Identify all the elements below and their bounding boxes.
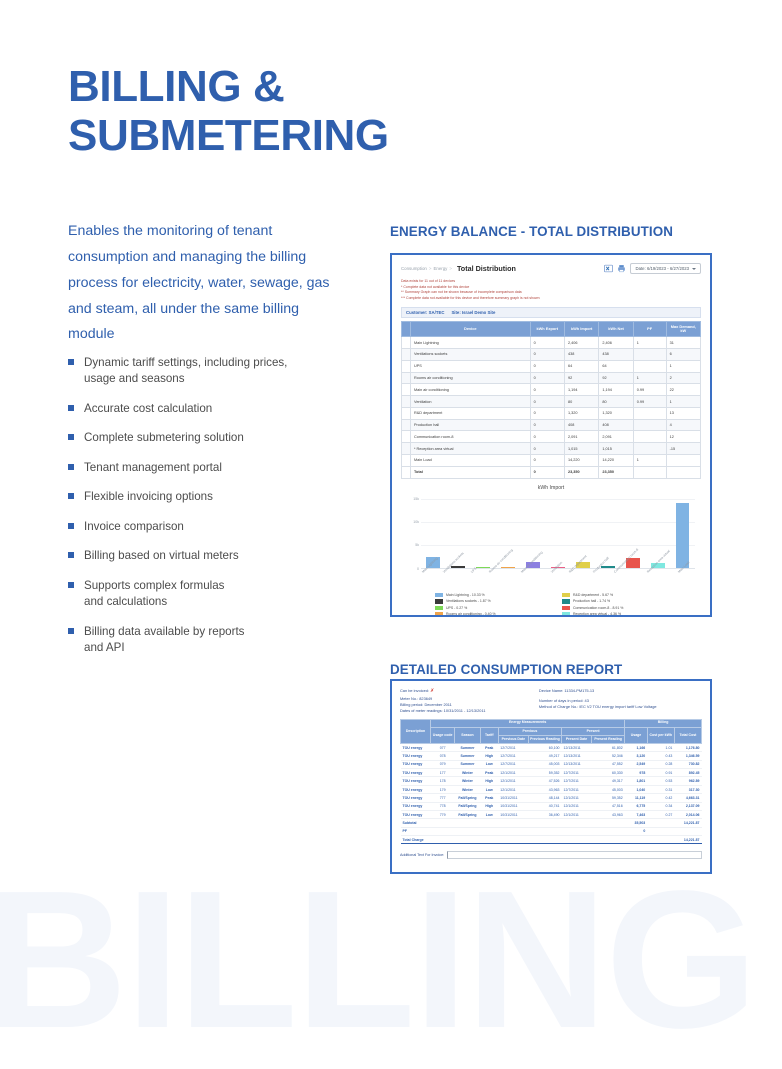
- table-cell: 1: [666, 396, 700, 408]
- feature-label: Dynamic tariff settings, including price…: [84, 355, 287, 388]
- table-cell: 61,802: [592, 743, 625, 751]
- table-row[interactable]: TOU energy778Fall/SpringHigh10/31/201140…: [401, 802, 702, 810]
- table-cell: 438: [599, 349, 633, 361]
- table-cell: 59,352: [592, 794, 625, 802]
- table-cell: 408: [564, 419, 598, 431]
- table-cell: 12: [666, 431, 700, 443]
- table-cell: 178: [431, 777, 455, 785]
- chevron-down-icon: [692, 268, 696, 270]
- report-meta: Can be invoiced: ✗ Meter No.: 823649 Bil…: [400, 688, 702, 714]
- table-cell: 0: [530, 384, 564, 396]
- table-cell: 1,194: [599, 384, 633, 396]
- table-cell: Rooms air conditioning: [411, 372, 531, 384]
- table-cell: 730.82: [674, 760, 701, 768]
- legend-item[interactable]: Rooms air conditioning - 0.40 %: [435, 612, 554, 617]
- table-cell: 10/31/2011: [498, 810, 528, 818]
- table-cell: 43,963: [528, 785, 561, 793]
- legend-item[interactable]: Production hall - 1.74 %: [562, 599, 681, 604]
- legend-swatch: [562, 606, 570, 611]
- footer-total: [674, 827, 701, 835]
- table-cell: 078: [431, 752, 455, 760]
- feature-item: Billing data available by reports and AP…: [68, 624, 368, 657]
- table-header-sub-row: Usage codeSeasonTariffPreviousPresentUsa…: [401, 727, 702, 735]
- table-cell: Communication room-8: [411, 431, 531, 443]
- table-cell: [402, 431, 411, 443]
- table-cell: 0.53: [647, 777, 674, 785]
- table-cell: 2: [666, 372, 700, 384]
- column-header[interactable]: Max Demand, kW: [666, 322, 700, 337]
- table-cell: 10/31/2011: [498, 794, 528, 802]
- table-cell: 2,406: [599, 337, 633, 349]
- table-cell: 92: [564, 372, 598, 384]
- table-cell: TOU energy: [401, 769, 431, 777]
- table-cell: [402, 443, 411, 455]
- legend-label: R&D department - 5.67 %: [573, 593, 613, 597]
- legend-item[interactable]: Communication room-8 - 8.91 %: [562, 606, 681, 611]
- footer-spacer: [647, 836, 674, 844]
- charge-method: Method of Charge No.: IEC V2 TOU energy …: [539, 704, 702, 710]
- table-cell: 31: [666, 337, 700, 349]
- table-cell: 2,137.09: [674, 802, 701, 810]
- table-cell: 1,801: [625, 777, 648, 785]
- table-cell: 12/13/2011: [562, 752, 592, 760]
- table-cell: 1: [633, 372, 666, 384]
- legend-swatch: [435, 612, 443, 617]
- group-header-energy: Energy Measurements: [431, 719, 625, 727]
- group-header-billing: Billing: [625, 719, 702, 727]
- table-cell: 1,194: [564, 384, 598, 396]
- table-cell: 778: [431, 802, 455, 810]
- pf-row: PF0: [401, 827, 702, 835]
- table-row[interactable]: TOU energy178WinterHigh12/1/201147,52612…: [401, 777, 702, 785]
- table-cell: 12/7/2011: [562, 769, 592, 777]
- bullet-icon: [68, 405, 74, 411]
- table-cell: [633, 349, 666, 361]
- feature-item: Supports complex formulas and calculatio…: [68, 578, 368, 611]
- breadcrumb-separator-2: >: [449, 266, 452, 271]
- column-header[interactable]: Device: [411, 322, 531, 337]
- report-section-title: DETAILED CONSUMPTION REPORT: [390, 662, 622, 677]
- y-tick-label: 0: [417, 567, 419, 571]
- chart-x-axis-labels: Main LightningVentilations socketsUPSRoo…: [421, 569, 695, 591]
- table-cell: 3,120: [625, 752, 648, 760]
- legend-label: Production hall - 1.74 %: [573, 599, 610, 603]
- table-cell: 48,144: [528, 794, 561, 802]
- table-cell: 14,220: [564, 455, 598, 467]
- table-cell: 892.45: [674, 769, 701, 777]
- bullet-icon: [68, 493, 74, 499]
- date-range-label: Date: 6/19/2023 - 6/27/2023: [635, 266, 689, 271]
- table-cell: 978: [625, 769, 648, 777]
- table-cell: 6: [666, 349, 700, 361]
- table-row[interactable]: TOU energy078SummerHigh12/7/201149,21712…: [401, 752, 702, 760]
- table-cell: TOU energy: [401, 785, 431, 793]
- site-label: Site: Israel Demo Site: [451, 310, 495, 315]
- table-header-group-row: DescriptionEnergy MeasurementsBilling: [401, 719, 702, 727]
- table-cell: 43,963: [592, 810, 625, 818]
- table-cell: 40,741: [528, 802, 561, 810]
- table-cell: [633, 407, 666, 419]
- legend-item[interactable]: UPS - 0.27 %: [435, 606, 554, 611]
- column-header-usage[interactable]: Usage: [625, 727, 648, 743]
- detailed-consumption-screenshot: Can be invoiced: ✗ Meter No.: 823649 Bil…: [390, 679, 712, 874]
- table-cell: 0: [530, 419, 564, 431]
- report-meta-left: Can be invoiced: ✗ Meter No.: 823649 Bil…: [400, 688, 539, 714]
- table-cell: Total: [411, 466, 531, 478]
- table-cell: 2,406: [564, 337, 598, 349]
- table-cell: [402, 407, 411, 419]
- table-cell: 0: [530, 407, 564, 419]
- table-cell: 59,352: [528, 769, 561, 777]
- can-be-invoiced-label: Can be invoiced:: [400, 688, 429, 693]
- table-cell: 0.91: [647, 769, 674, 777]
- table-row[interactable]: TOU energy177WinterPeak12/1/201159,35212…: [401, 769, 702, 777]
- feature-item: Dynamic tariff settings, including price…: [68, 355, 368, 388]
- table-cell: 2,091: [599, 431, 633, 443]
- legend-swatch: [435, 593, 443, 598]
- table-row[interactable]: * Reception area virtual01,0151,015-15: [402, 443, 701, 455]
- footer-total: 14,221.87: [674, 836, 701, 844]
- table-cell: High: [480, 802, 498, 810]
- feature-label: Billing based on virtual meters: [84, 548, 239, 564]
- table-cell: Peak: [480, 794, 498, 802]
- table-cell: Winter: [455, 769, 481, 777]
- table-row[interactable]: Production hall04084084: [402, 419, 701, 431]
- table-row[interactable]: Main air conditioning01,1941,1940.9922: [402, 384, 701, 396]
- column-header-cost-per-kwh[interactable]: Cost per kWh: [647, 727, 674, 743]
- table-cell: [402, 455, 411, 467]
- feature-item: Invoice comparison: [68, 519, 368, 535]
- table-cell: Summer: [455, 743, 481, 751]
- legend-label: Communication room-8 - 8.91 %: [573, 606, 623, 610]
- meter-reading-dates: Dates of meter readings: 10/31/2011 - 12…: [400, 708, 539, 714]
- footer-usage: [625, 836, 648, 844]
- table-cell: 179: [431, 785, 455, 793]
- energy-bar-chart: 05k10k15k Main LightningVentilations soc…: [405, 495, 695, 591]
- page-title-line1: BILLING &: [68, 62, 284, 111]
- table-cell: 0: [530, 466, 564, 478]
- table-row[interactable]: TOU energy077SummerPeak12/7/201160,10012…: [401, 743, 702, 751]
- table-cell: 80: [564, 396, 598, 408]
- legend-swatch: [435, 606, 443, 611]
- chart-title: kWh Import: [401, 485, 701, 491]
- table-cell: Ventilation: [411, 396, 531, 408]
- feature-item: Flexible invoicing options: [68, 489, 368, 505]
- feature-label: Invoice comparison: [84, 519, 184, 535]
- table-cell: 0.31: [647, 785, 674, 793]
- table-cell: 1,346.59: [674, 752, 701, 760]
- table-cell: 14,220: [599, 455, 633, 467]
- legend-item[interactable]: R&D department - 5.67 %: [562, 593, 681, 598]
- table-cell: 12/13/2011: [562, 760, 592, 768]
- table-cell: 1.01: [647, 743, 674, 751]
- table-row[interactable]: UPS064641: [402, 360, 701, 372]
- bullet-icon: [68, 582, 74, 588]
- legend-label: UPS - 0.27 %: [446, 606, 467, 610]
- legend-swatch: [562, 612, 570, 617]
- bullet-icon: [68, 628, 74, 634]
- legend-item[interactable]: Ventilations sockets - 1.87 %: [435, 599, 554, 604]
- feature-label: Tenant management portal: [84, 460, 222, 476]
- table-cell: 0: [530, 443, 564, 455]
- table-cell: [633, 431, 666, 443]
- footer-usage: 0: [625, 827, 648, 835]
- table-row[interactable]: Total023,35023,350: [402, 466, 701, 478]
- table-cell: 779: [431, 810, 455, 818]
- column-header-description[interactable]: Description: [401, 719, 431, 743]
- table-cell: TOU energy: [401, 810, 431, 818]
- legend-label: Reception area virtual - 4.36 %: [573, 612, 621, 616]
- table-cell: Peak: [480, 743, 498, 751]
- energy-toolbar: Date: 6/19/2023 - 6/27/2023: [604, 263, 701, 274]
- table-row[interactable]: Main Load014,22014,2201: [402, 455, 701, 467]
- table-cell: TOU energy: [401, 794, 431, 802]
- column-header-usage-code[interactable]: Usage code: [431, 727, 455, 743]
- table-row[interactable]: Main Lightning02,4062,406131: [402, 337, 701, 349]
- footer-spacer: [647, 827, 674, 835]
- table-cell: 23,350: [599, 466, 633, 478]
- intro-paragraph: Enables the monitoring of tenant consump…: [68, 219, 330, 348]
- table-row[interactable]: TOU energy179WinterLow12/1/201143,96312/…: [401, 785, 702, 793]
- customer-label: Customer: SA/TEC: [406, 310, 444, 315]
- table-cell: 49,217: [528, 752, 561, 760]
- table-cell: Main Lightning: [411, 337, 531, 349]
- table-cell: [633, 419, 666, 431]
- table-cell: 1,320: [599, 407, 633, 419]
- can-be-invoiced-row: Can be invoiced: ✗: [400, 688, 539, 696]
- table-row[interactable]: R&D department01,3201,32013: [402, 407, 701, 419]
- table-cell: TOU energy: [401, 752, 431, 760]
- table-cell: [666, 466, 700, 478]
- feature-label: Billing data available by reports and AP…: [84, 624, 244, 657]
- column-header-season[interactable]: Season: [455, 727, 481, 743]
- table-cell: 177: [431, 769, 455, 777]
- table-cell: [402, 337, 411, 349]
- energy-note: *** Complete data not available for this…: [401, 296, 701, 302]
- table-row[interactable]: Ventilation080800.991: [402, 396, 701, 408]
- table-cell: 0.42: [647, 794, 674, 802]
- table-cell: 47,516: [592, 802, 625, 810]
- legend-label: Rooms air conditioning - 0.40 %: [446, 612, 496, 616]
- table-cell: Winter: [455, 785, 481, 793]
- table-cell: 0.34: [647, 802, 674, 810]
- table-cell: Summer: [455, 752, 481, 760]
- table-cell: TOU energy: [401, 760, 431, 768]
- table-cell: [402, 360, 411, 372]
- table-cell: Low: [480, 810, 498, 818]
- table-cell: 1,015: [564, 443, 598, 455]
- table-cell: 0.43: [647, 752, 674, 760]
- table-row[interactable]: Communication room-802,0912,09112: [402, 431, 701, 443]
- table-cell: 47,552: [592, 760, 625, 768]
- table-cell: Main air conditioning: [411, 384, 531, 396]
- table-cell: 0: [530, 349, 564, 361]
- table-cell: 92: [599, 372, 633, 384]
- additional-text-input[interactable]: [447, 851, 702, 859]
- column-header-present-date[interactable]: Present Date: [562, 735, 592, 743]
- table-row[interactable]: TOU energy079SummerLow12/7/201145,00312/…: [401, 760, 702, 768]
- table-cell: 777: [431, 794, 455, 802]
- table-cell: [633, 443, 666, 455]
- footer-label: Total Charge: [401, 836, 625, 844]
- footer-label: PF: [401, 827, 625, 835]
- table-cell: 0: [530, 431, 564, 443]
- table-cell: 1,320: [564, 407, 598, 419]
- energy-balance-table: DevicekWh ExportkWh ImportkWh NetPFMax D…: [401, 321, 701, 479]
- table-cell: 12/1/2011: [562, 802, 592, 810]
- table-cell: High: [480, 777, 498, 785]
- column-header[interactable]: PF: [633, 322, 666, 337]
- feature-item: Tenant management portal: [68, 460, 368, 476]
- y-tick-label: 10k: [413, 520, 419, 524]
- table-cell: 12/7/2011: [562, 785, 592, 793]
- table-row[interactable]: TOU energy777Fall/SpringPeak10/31/201148…: [401, 794, 702, 802]
- feature-label: Complete submetering solution: [84, 430, 244, 446]
- column-header[interactable]: kWh Export: [530, 322, 564, 337]
- table-cell: 22: [666, 384, 700, 396]
- feature-list: Dynamic tariff settings, including price…: [68, 355, 368, 669]
- bullet-icon: [68, 552, 74, 558]
- red-x-icon: ✗: [430, 688, 434, 694]
- table-cell: 64: [599, 360, 633, 372]
- table-cell: 0: [530, 396, 564, 408]
- table-cell: 52,346: [592, 752, 625, 760]
- table-cell: Production hall: [411, 419, 531, 431]
- bullet-icon: [68, 523, 74, 529]
- energy-page-title: Total Distribution: [457, 264, 516, 273]
- breadcrumb-item-energy[interactable]: Energy: [433, 266, 447, 271]
- table-cell: 12/7/2011: [498, 743, 528, 751]
- table-cell: 23,350: [564, 466, 598, 478]
- feature-label: Flexible invoicing options: [84, 489, 213, 505]
- legend-label: Main Lightning - 10.33 %: [446, 593, 485, 597]
- table-cell: UPS: [411, 360, 531, 372]
- legend-swatch: [562, 599, 570, 604]
- table-header-row: DevicekWh ExportkWh ImportkWh NetPFMax D…: [402, 322, 701, 337]
- column-header-tariff[interactable]: Tariff: [480, 727, 498, 743]
- table-cell: 962.89: [674, 777, 701, 785]
- page-title: BILLING & SUBMETERING: [68, 62, 468, 161]
- table-cell: High: [480, 752, 498, 760]
- table-cell: 408: [599, 419, 633, 431]
- column-header-previous-reading[interactable]: Previous Reading: [528, 735, 561, 743]
- table-cell: 1,176.80: [674, 743, 701, 751]
- bullet-icon: [68, 434, 74, 440]
- footer-spacer: [647, 819, 674, 827]
- table-cell: 13: [666, 407, 700, 419]
- table-cell: 12/1/2011: [498, 785, 528, 793]
- y-tick-label: 5k: [415, 543, 419, 547]
- table-cell: 1: [666, 360, 700, 372]
- consumption-report-table: DescriptionEnergy MeasurementsBillingUsa…: [400, 719, 702, 845]
- breadcrumb-item-consumption[interactable]: Consumption: [401, 266, 427, 271]
- table-cell: Peak: [480, 769, 498, 777]
- table-cell: [402, 372, 411, 384]
- table-cell: 4: [666, 419, 700, 431]
- legend-item[interactable]: Reception area virtual - 4.36 %: [562, 612, 681, 617]
- column-header[interactable]: kWh Net: [599, 322, 633, 337]
- table-cell: 36,490: [528, 810, 561, 818]
- additional-text-row: Additional Text For Invoice:: [400, 851, 702, 859]
- table-cell: * Reception area virtual: [411, 443, 531, 455]
- printer-icon[interactable]: [617, 264, 626, 273]
- feature-label: Supports complex formulas and calculatio…: [84, 578, 224, 611]
- column-header-total-cost[interactable]: Total Cost: [674, 727, 701, 743]
- table-cell: TOU energy: [401, 743, 431, 751]
- date-range-selector[interactable]: Date: 6/19/2023 - 6/27/2023: [630, 263, 701, 274]
- total-charge-row: Total Charge14,221.87: [401, 836, 702, 844]
- table-cell: [633, 360, 666, 372]
- table-cell: Main Load: [411, 455, 531, 467]
- table-cell: 438: [564, 349, 598, 361]
- table-cell: 1: [633, 337, 666, 349]
- table-cell: [666, 455, 700, 467]
- table-row[interactable]: Rooms air conditioning0929212: [402, 372, 701, 384]
- table-cell: Fall/Spring: [455, 810, 481, 818]
- table-cell: 0: [530, 455, 564, 467]
- table-cell: Summer: [455, 760, 481, 768]
- table-cell: 079: [431, 760, 455, 768]
- table-cell: TOU energy: [401, 777, 431, 785]
- table-cell: 10/31/2011: [498, 802, 528, 810]
- table-cell: 317.30: [674, 785, 701, 793]
- bar-cell: [471, 495, 496, 568]
- table-cell: [633, 466, 666, 478]
- page-title-line2: SUBMETERING: [68, 111, 468, 160]
- table-row[interactable]: Ventilations sockets04384386: [402, 349, 701, 361]
- footer-label: Subtotal: [401, 819, 625, 827]
- legend-item[interactable]: Main Lightning - 10.33 %: [435, 593, 554, 598]
- energy-section-title: ENERGY BALANCE - TOTAL DISTRIBUTION: [390, 224, 673, 239]
- table-cell: 12/7/2011: [498, 752, 528, 760]
- table-cell: Ventilations sockets: [411, 349, 531, 361]
- column-header[interactable]: kWh Import: [564, 322, 598, 337]
- additional-text-label: Additional Text For Invoice:: [400, 853, 444, 857]
- table-cell: TOU energy: [401, 802, 431, 810]
- table-cell: -15: [666, 443, 700, 455]
- legend-swatch: [435, 599, 443, 604]
- table-cell: Fall/Spring: [455, 794, 481, 802]
- table-cell: 12/1/2011: [562, 810, 592, 818]
- table-cell: 2,091: [564, 431, 598, 443]
- footer-usage: 35,503: [625, 819, 648, 827]
- breadcrumb-separator: >: [429, 266, 432, 271]
- column-header-previous-date[interactable]: Previous Date: [498, 735, 528, 743]
- table-cell: 12/1/2011: [498, 769, 528, 777]
- table-cell: 2,014.06: [674, 810, 701, 818]
- table-cell: 12/7/2011: [498, 760, 528, 768]
- feature-item: Complete submetering solution: [68, 430, 368, 446]
- table-cell: 6,775: [625, 802, 648, 810]
- table-cell: 45,003: [592, 785, 625, 793]
- table-cell: 7,463: [625, 810, 648, 818]
- table-cell: 80: [599, 396, 633, 408]
- group-header-present: Present: [562, 727, 625, 735]
- column-header-present-reading[interactable]: Present Reading: [592, 735, 625, 743]
- energy-balance-screenshot: Consumption > Energy > Total Distributio…: [390, 253, 712, 617]
- table-cell: 47,526: [528, 777, 561, 785]
- table-row[interactable]: TOU energy779Fall/SpringLow10/31/201136,…: [401, 810, 702, 818]
- excel-export-icon[interactable]: [604, 264, 613, 273]
- report-meta-right: Device Name: 11334-PM175-13 Number of da…: [539, 688, 702, 714]
- feature-item: Accurate cost calculation: [68, 401, 368, 417]
- table-cell: Low: [480, 760, 498, 768]
- energy-toolbar-row: Consumption > Energy > Total Distributio…: [401, 263, 701, 274]
- chart-legend: Main Lightning - 10.33 %R&D department -…: [435, 593, 681, 617]
- footer-total: 14,221.87: [674, 819, 701, 827]
- table-cell: [402, 349, 411, 361]
- table-cell: 1: [633, 455, 666, 467]
